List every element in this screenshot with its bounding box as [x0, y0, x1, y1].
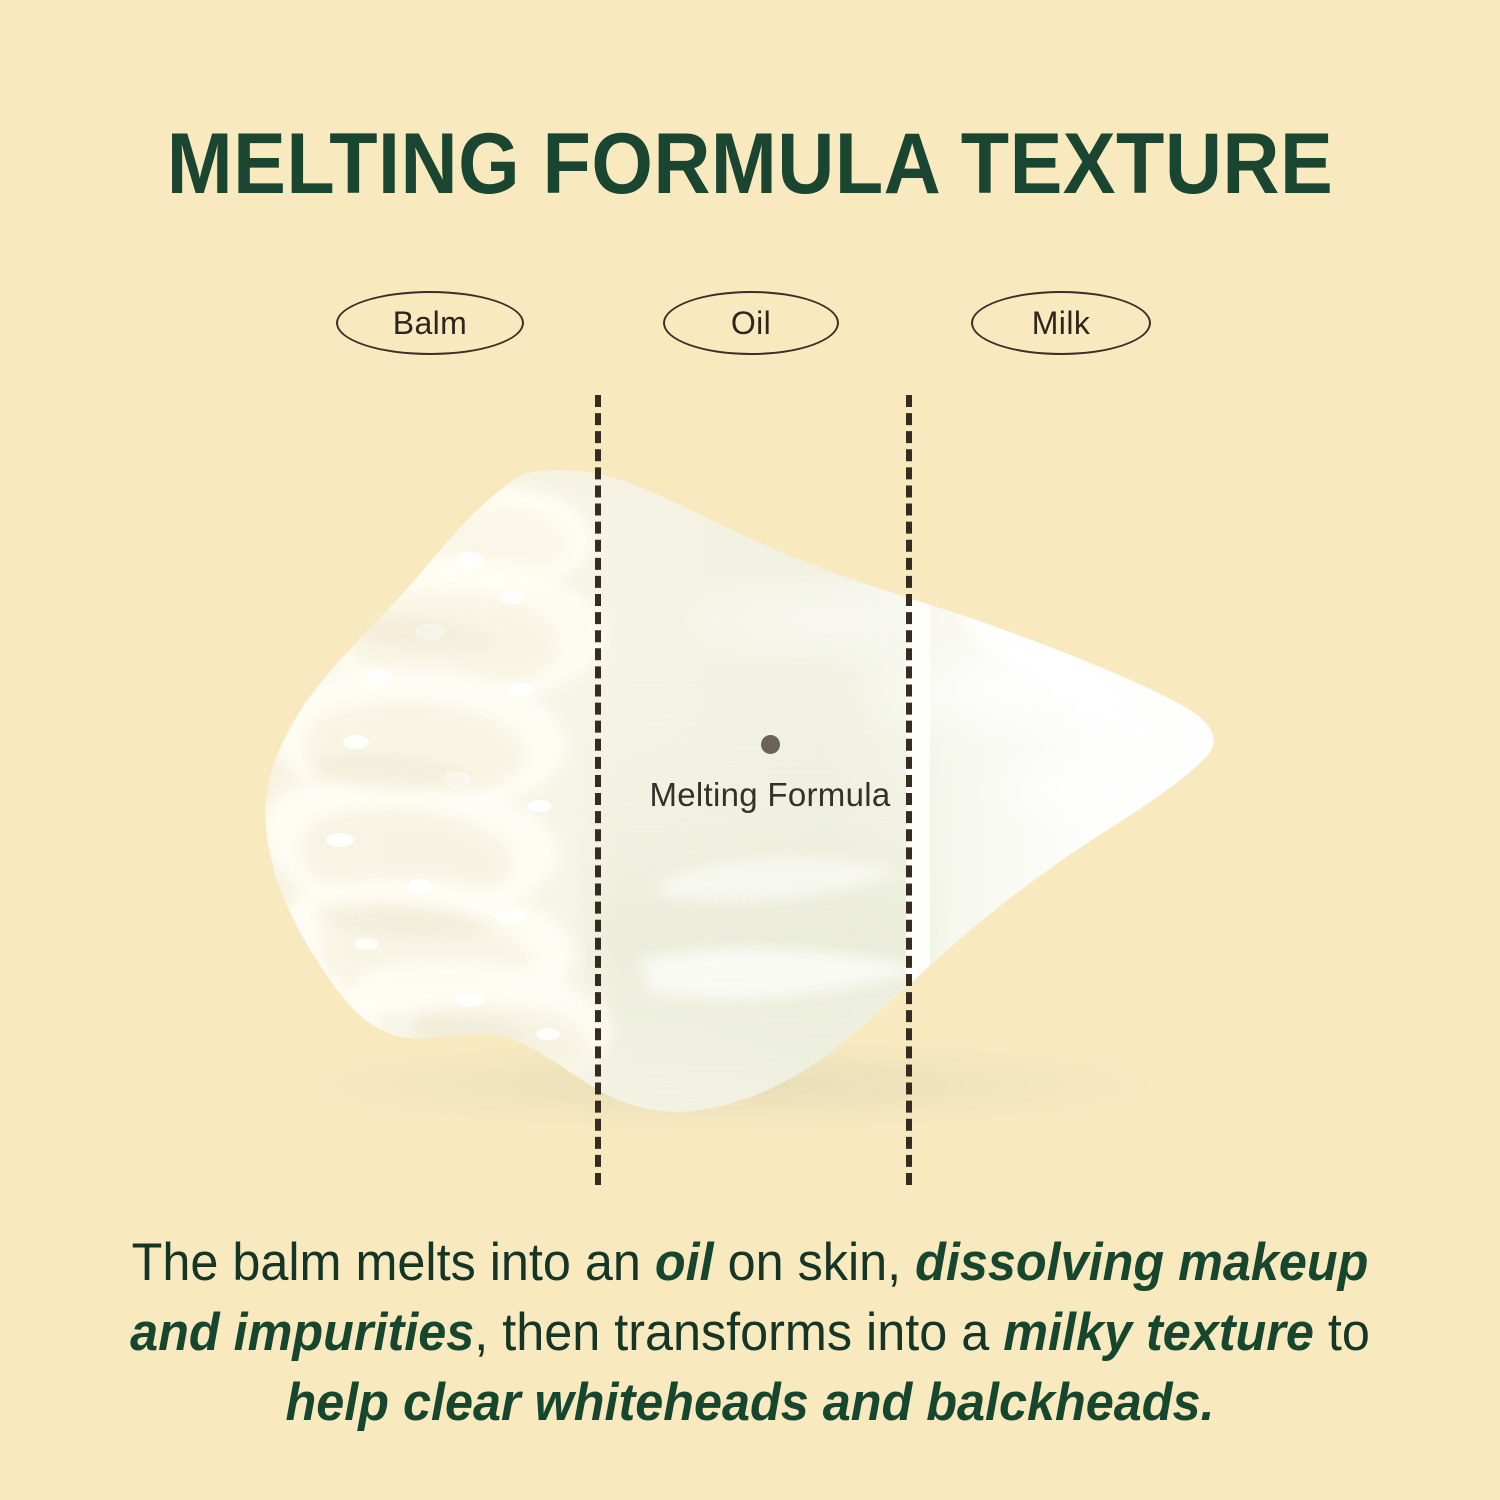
description-plain: , then transforms into a	[474, 1303, 1003, 1362]
melting-formula-dot-icon	[761, 735, 780, 754]
stage-label-oil-text: Oil	[731, 305, 771, 342]
stage-label-oil: Oil	[663, 291, 839, 355]
description-plain: The balm melts into an	[132, 1233, 655, 1292]
page-title: MELTING FORMULA TEXTURE	[60, 116, 1440, 212]
stage-label-balm-text: Balm	[393, 305, 468, 342]
melting-formula-callout: Melting Formula	[600, 735, 940, 814]
description-text: The balm melts into an oil on skin, diss…	[109, 1228, 1392, 1438]
melting-formula-label: Melting Formula	[600, 776, 940, 814]
description-emphasis: milky texture	[1003, 1303, 1314, 1362]
balm-texture-chunks	[264, 486, 611, 1085]
description-emphasis: oil	[655, 1233, 714, 1292]
infographic-canvas: MELTING FORMULA TEXTURE Balm Oil Milk	[0, 0, 1500, 1500]
swatch-shadow	[300, 1039, 1160, 1131]
stage-label-balm: Balm	[336, 291, 524, 355]
stage-label-milk: Milk	[971, 291, 1151, 355]
description-emphasis: help clear whiteheads and balckheads.	[285, 1373, 1214, 1432]
description-plain: to	[1314, 1303, 1370, 1362]
description-plain: on skin,	[714, 1233, 916, 1292]
stage-label-milk-text: Milk	[1032, 305, 1090, 342]
